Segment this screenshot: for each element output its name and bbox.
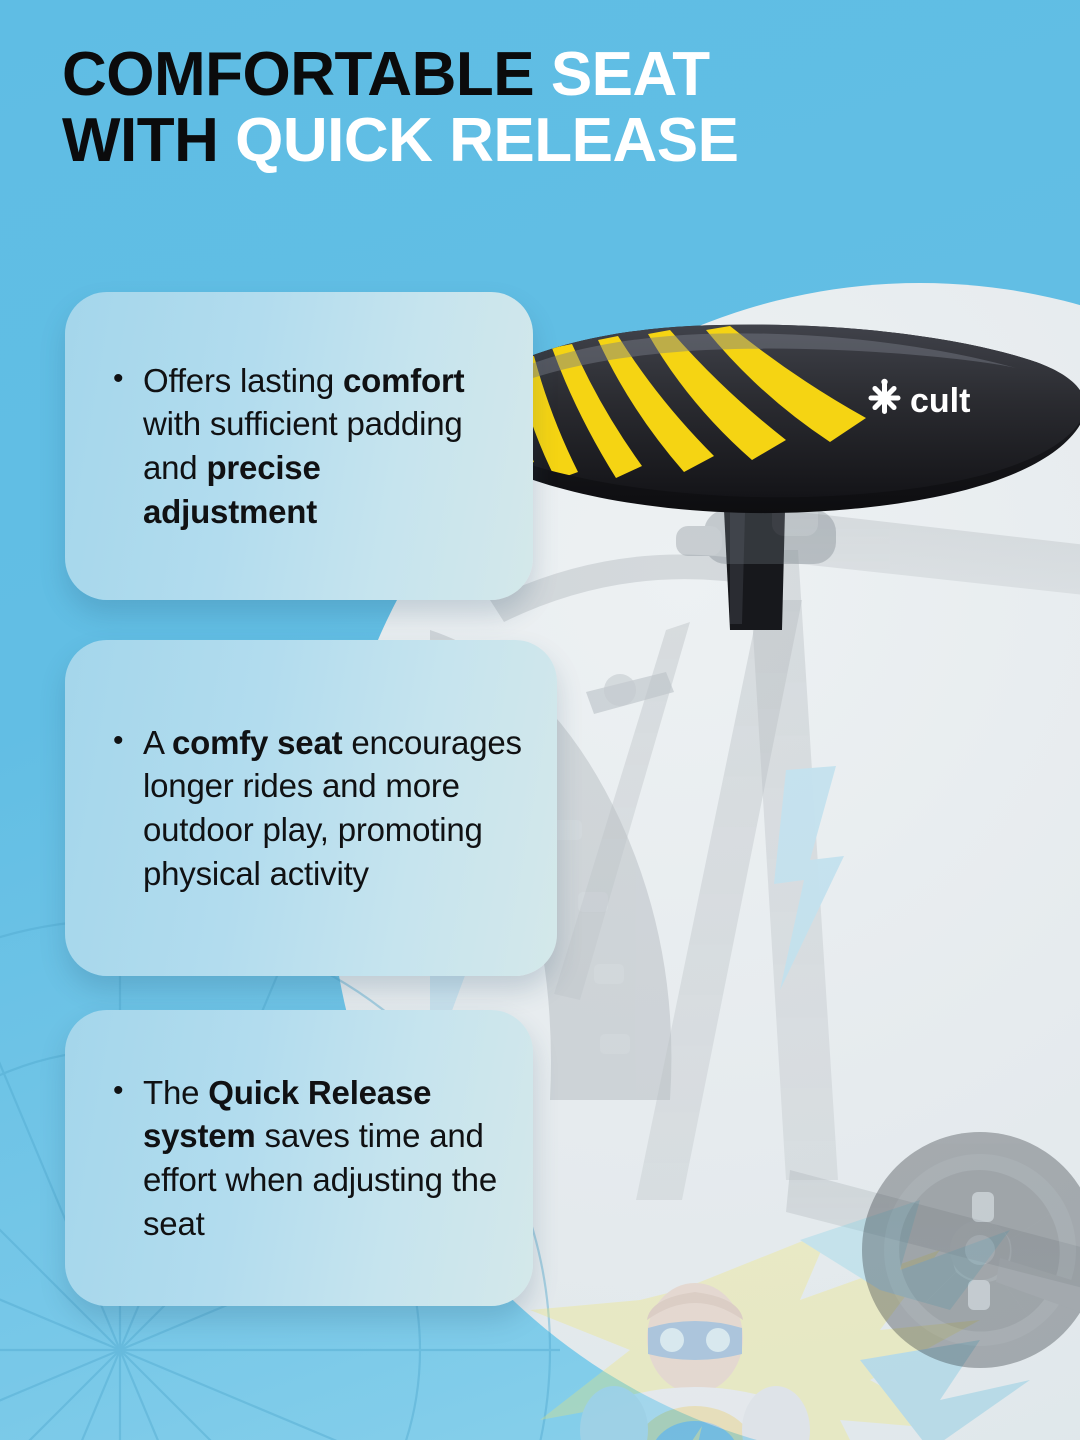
list-item: • A comfy seat encourages longer rides a…	[65, 721, 557, 895]
feature-text: Offers lasting comfort with sufficient p…	[143, 359, 503, 533]
cult-brand-logo: cult	[869, 379, 971, 420]
bicycle-saddle: cult	[445, 325, 1080, 513]
bullet-icon: •	[113, 359, 143, 533]
feature-card-comfy-seat: • A comfy seat encourages longer rides a…	[65, 640, 557, 976]
page-title: COMFORTABLE SEAT WITH QUICK RELEASE	[62, 42, 1022, 173]
list-item: • Offers lasting comfort with sufficient…	[65, 359, 533, 533]
headline-word-quick-release: QUICK RELEASE	[235, 106, 738, 175]
feature-text: A comfy seat encourages longer rides and…	[143, 721, 527, 895]
cult-wordmark: cult	[910, 382, 970, 420]
headline-word-seat: SEAT	[551, 40, 710, 109]
headline-line-1: COMFORTABLE SEAT	[62, 42, 1022, 108]
product-feature-poster: cult COMFORTABLE SEAT WITH QUICK RELEASE…	[0, 0, 1080, 1440]
feature-card-quick-release: • The Quick Release system saves time an…	[65, 1010, 533, 1306]
headline-line-2: WITH QUICK RELEASE	[62, 108, 1022, 174]
bullet-icon: •	[113, 721, 143, 895]
headline-word-comfortable: COMFORTABLE	[62, 40, 534, 109]
headline-word-with: WITH	[62, 106, 218, 175]
list-item: • The Quick Release system saves time an…	[65, 1071, 533, 1245]
bullet-icon: •	[113, 1071, 143, 1245]
feature-card-comfort: • Offers lasting comfort with sufficient…	[65, 292, 533, 600]
feature-text: The Quick Release system saves time and …	[143, 1071, 503, 1245]
